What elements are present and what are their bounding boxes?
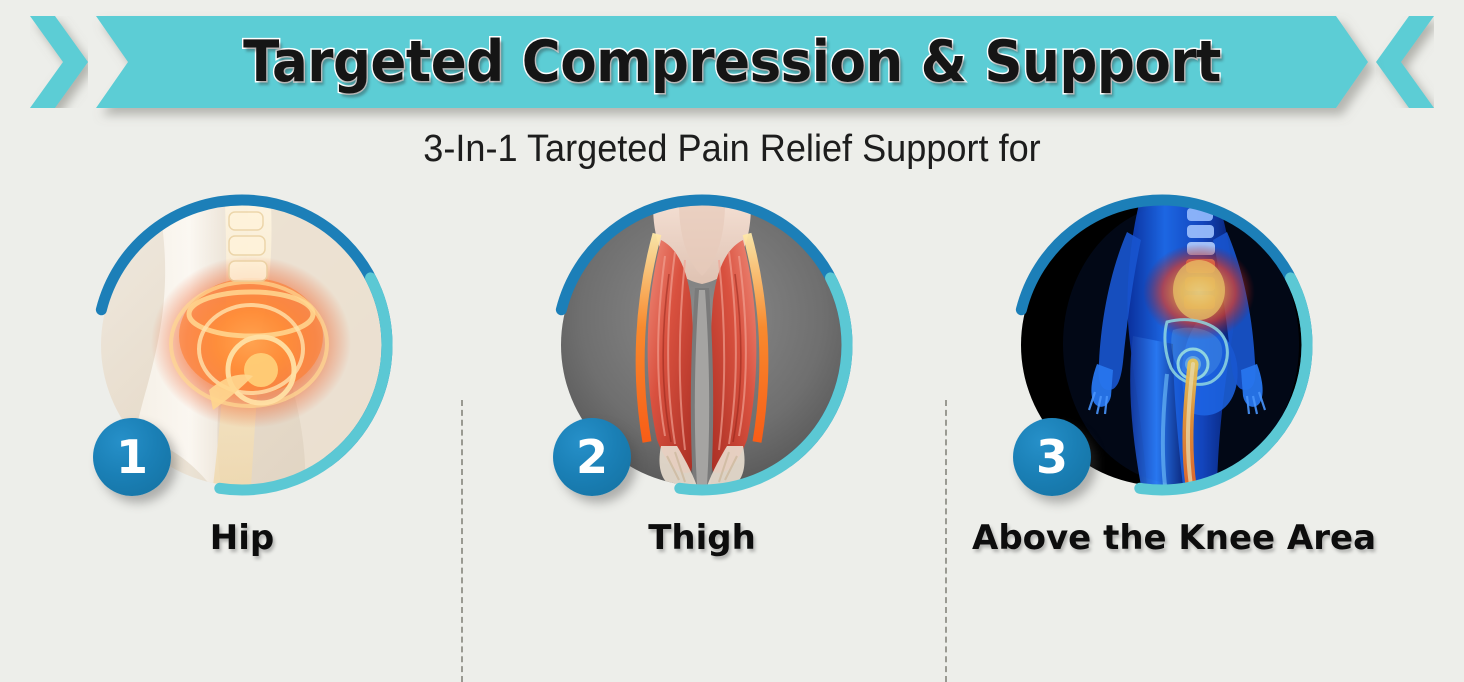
- chevron-right-double-icon: [30, 16, 88, 108]
- panel-above-knee[interactable]: 3 Above the Knee Area: [972, 190, 1352, 590]
- caption-hip: Hip: [52, 518, 432, 558]
- circle-above-knee: 3: [1007, 190, 1317, 500]
- badge-number-1: 1: [93, 418, 171, 496]
- badge-number-2: 2: [553, 418, 631, 496]
- header-banner: Targeted Compression & Support: [0, 16, 1464, 108]
- panel-divider-2: [945, 400, 947, 682]
- caption-thigh: Thigh: [512, 518, 892, 558]
- circle-hip: 1: [87, 190, 397, 500]
- panel-divider-1: [461, 400, 463, 682]
- chevron-left-double-icon: [1376, 16, 1434, 108]
- panel-thigh[interactable]: 2 Thigh: [512, 190, 892, 590]
- banner-plate: Targeted Compression & Support: [96, 16, 1368, 108]
- feature-panels: 1 Hip: [0, 190, 1464, 590]
- page-title: Targeted Compression & Support: [141, 16, 1324, 108]
- panel-hip[interactable]: 1 Hip: [52, 190, 432, 590]
- caption-above-knee: Above the Knee Area: [972, 518, 1352, 558]
- circle-thigh: 2: [547, 190, 857, 500]
- badge-number-3: 3: [1013, 418, 1091, 496]
- subtitle: 3-In-1 Targeted Pain Relief Support for: [37, 128, 1428, 171]
